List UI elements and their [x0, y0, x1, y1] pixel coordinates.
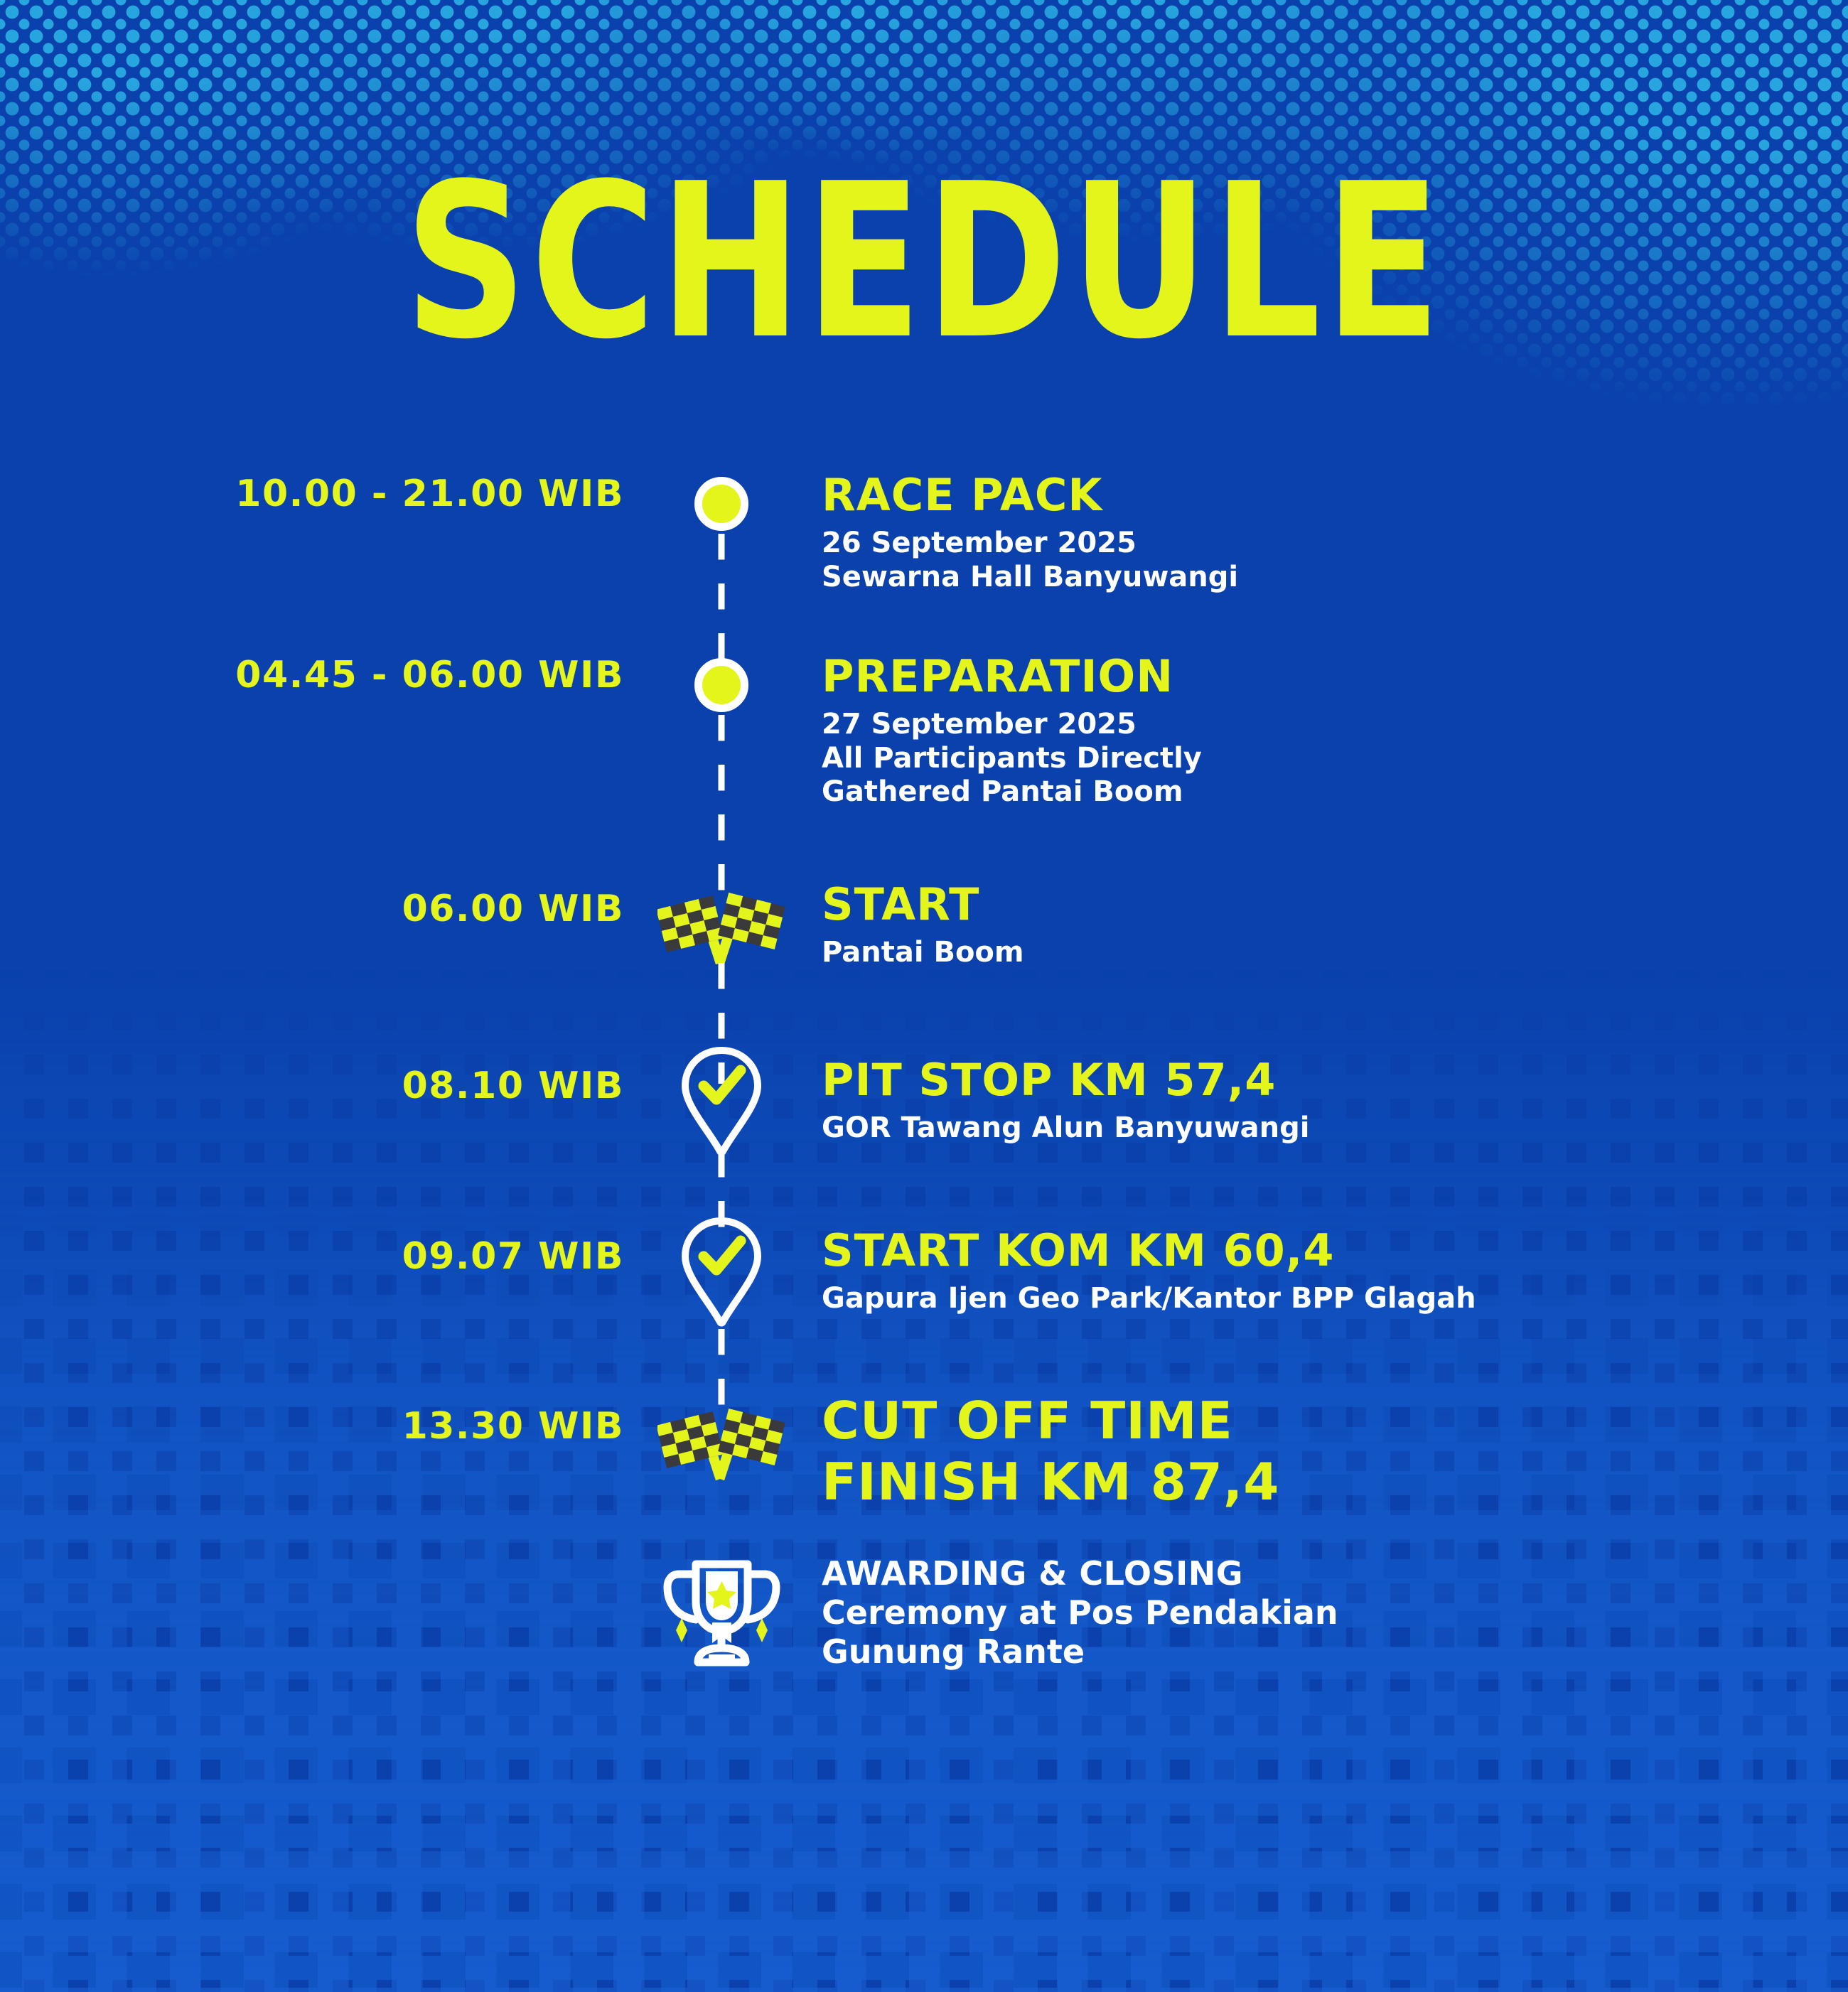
timeline-connector [719, 715, 725, 896]
timeline-marker-start-kom [654, 1215, 789, 1329]
timeline-content-cut-off: CUT OFF TIME FINISH KM 87,4 [789, 1389, 1848, 1510]
circle-dot-icon [694, 477, 748, 531]
timeline-content-start-kom: START KOM KM 60,4 Gapura Ijen Geo Park/K… [789, 1215, 1848, 1316]
page-title: SCHEDULE [404, 160, 1444, 365]
timeline-content-race-pack: RACE PACK 26 September 2025 Sewarna Hall… [789, 473, 1848, 594]
checkered-flags-icon [657, 878, 785, 970]
timeline-item-awarding-closing: AWARDING & CLOSING Ceremony at Pos Penda… [0, 1549, 1848, 1719]
circle-dot-icon [694, 658, 748, 712]
timeline-heading-preparation: PREPARATION [822, 654, 1848, 699]
timeline-heading-cut-off-line1: CUT OFF TIME [822, 1394, 1848, 1449]
map-pin-check-icon [675, 1045, 768, 1158]
checkered-flags-icon [657, 1394, 785, 1486]
timeline-marker-cut-off [654, 1389, 789, 1486]
timeline-content-preparation: PREPARATION 27 September 2025 All Partic… [789, 654, 1848, 809]
schedule-poster: SCHEDULE 10.00 - 21.00 WIB RACE PACK 26 … [0, 0, 1848, 1992]
timeline-detail-start-kom: Gapura Ijen Geo Park/Kantor BPP Glagah [822, 1282, 1848, 1315]
timeline-item-race-pack: 10.00 - 21.00 WIB RACE PACK 26 September… [0, 473, 1848, 654]
timeline-detail-pit-stop: GOR Tawang Alun Banyuwangi [822, 1111, 1848, 1145]
timeline-marker-preparation [654, 654, 789, 712]
closing-detail: Ceremony at Pos Pendakian Gunung Rante [822, 1593, 1848, 1671]
timeline-time-preparation: 04.45 - 06.00 WIB [0, 654, 654, 696]
trophy-icon [656, 1549, 788, 1673]
timeline-heading-race-pack: RACE PACK [822, 473, 1848, 518]
timeline-time-cut-off: 13.30 WIB [0, 1389, 654, 1448]
timeline-item-start-kom: 09.07 WIB START KOM KM 60,4 Gapura Ijen … [0, 1215, 1848, 1389]
map-pin-check-icon [675, 1215, 768, 1329]
timeline-item-cut-off: 13.30 WIB [0, 1389, 1848, 1553]
timeline-marker-pit-stop [654, 1045, 789, 1158]
timeline-marker-race-pack [654, 473, 789, 531]
timeline-time-pit-stop: 08.10 WIB [0, 1045, 654, 1107]
timeline-item-start: 06.00 WIB [0, 878, 1848, 1045]
timeline-heading-start-kom: START KOM KM 60,4 [822, 1228, 1848, 1274]
timeline-time-start: 06.00 WIB [0, 878, 654, 930]
timeline-time-race-pack: 10.00 - 21.00 WIB [0, 473, 654, 515]
timeline-heading-cut-off-line2: FINISH KM 87,4 [822, 1455, 1848, 1510]
timeline-detail-race-pack: 26 September 2025 Sewarna Hall Banyuwang… [822, 527, 1848, 593]
closing-heading: AWARDING & CLOSING [822, 1554, 1848, 1593]
timeline-marker-start [654, 878, 789, 970]
timeline-content-start: START Pantai Boom [789, 878, 1848, 970]
timeline-item-preparation: 04.45 - 06.00 WIB PREPARATION 27 Septemb… [0, 654, 1848, 878]
timeline: 10.00 - 21.00 WIB RACE PACK 26 September… [0, 473, 1848, 1719]
timeline-marker-awarding-closing [654, 1549, 789, 1673]
timeline-content-awarding-closing: AWARDING & CLOSING Ceremony at Pos Penda… [789, 1549, 1848, 1672]
timeline-item-pit-stop: 08.10 WIB PIT STOP KM 57,4 GOR Tawang Al… [0, 1045, 1848, 1215]
timeline-heading-start: START [822, 882, 1848, 927]
page-title-container: SCHEDULE [0, 160, 1848, 365]
timeline-detail-start: Pantai Boom [822, 936, 1848, 969]
timeline-time-start-kom: 09.07 WIB [0, 1215, 654, 1278]
timeline-content-pit-stop: PIT STOP KM 57,4 GOR Tawang Alun Banyuwa… [789, 1045, 1848, 1146]
timeline-detail-preparation: 27 September 2025 All Participants Direc… [822, 708, 1848, 809]
timeline-heading-pit-stop: PIT STOP KM 57,4 [822, 1057, 1848, 1103]
